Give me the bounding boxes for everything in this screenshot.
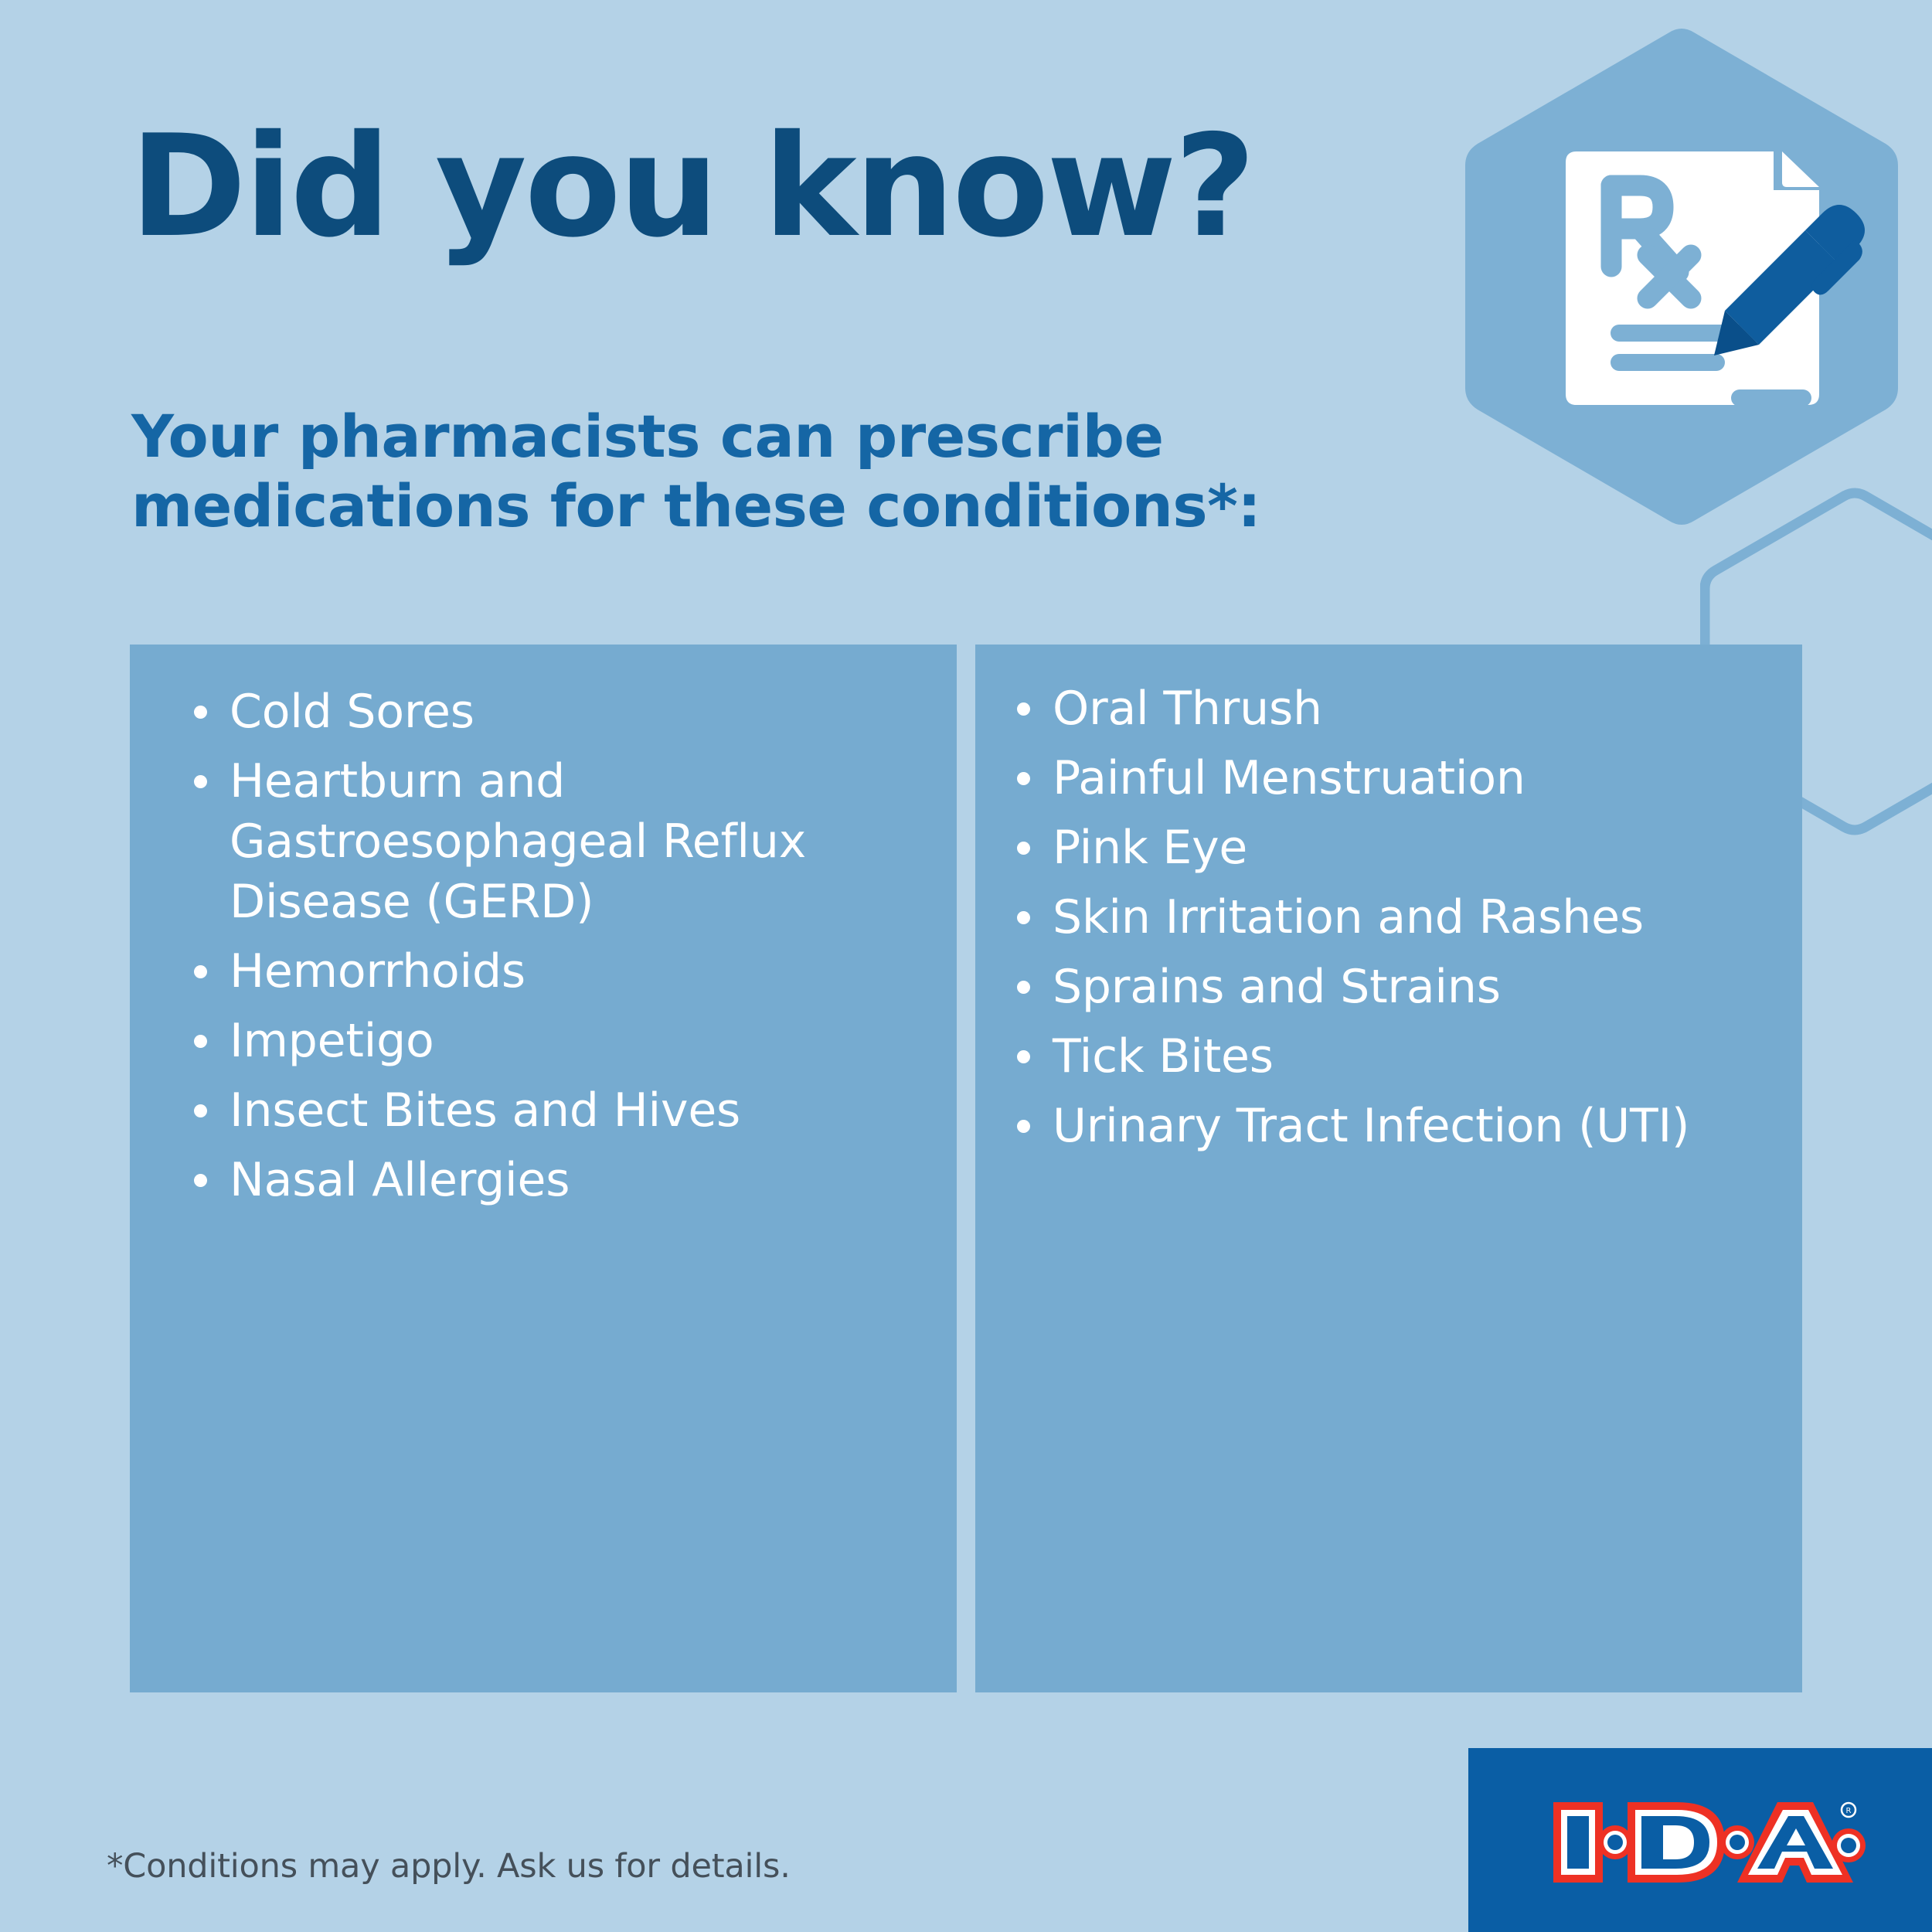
brand-logo-block: R xyxy=(1468,1748,1932,1932)
hexagon-shape xyxy=(1465,29,1898,525)
list-item: Nasal Allergies xyxy=(189,1150,926,1210)
conditions-list-right: Oral Thrush Painful Menstruation Pink Ey… xyxy=(975,645,1802,1156)
subtitle-line-2: medications for these conditions*: xyxy=(131,471,1291,541)
list-item: Pink Eye xyxy=(1012,818,1771,878)
conditions-panel-left: Cold Sores Heartburn and Gastroesophagea… xyxy=(130,645,957,1692)
footnote-disclaimer: *Conditions may apply. Ask us for detail… xyxy=(107,1847,791,1886)
list-item: Insect Bites and Hives xyxy=(189,1080,926,1141)
list-item: Impetigo xyxy=(189,1011,926,1071)
conditions-panel-right: Oral Thrush Painful Menstruation Pink Ey… xyxy=(975,645,1802,1692)
poster-canvas: Did you know? Your pharmacists can presc… xyxy=(0,0,1932,1932)
list-item: Cold Sores xyxy=(189,682,926,742)
list-item: Painful Menstruation xyxy=(1012,748,1771,808)
list-item: Hemorrhoids xyxy=(189,941,926,1002)
conditions-list-left: Cold Sores Heartburn and Gastroesophagea… xyxy=(130,645,957,1210)
subtitle: Your pharmacists can prescribe medicatio… xyxy=(131,402,1291,540)
rx-prescription-document-icon xyxy=(1566,151,1819,406)
list-item: Heartburn and Gastroesophageal Reflux Di… xyxy=(189,751,926,932)
list-item: Skin Irritation and Rashes xyxy=(1012,887,1771,947)
pen-icon xyxy=(1714,205,1865,355)
list-item: Oral Thrush xyxy=(1012,679,1771,739)
ida-pharmacy-logo: R xyxy=(1546,1788,1870,1896)
page-title: Did you know? xyxy=(130,116,1253,257)
list-item: Sprains and Strains xyxy=(1012,957,1771,1017)
list-item: Urinary Tract Infection (UTI) xyxy=(1012,1096,1771,1156)
subtitle-line-1: Your pharmacists can prescribe xyxy=(131,402,1291,471)
svg-text:R: R xyxy=(1846,1807,1852,1815)
list-item: Tick Bites xyxy=(1012,1026,1771,1087)
